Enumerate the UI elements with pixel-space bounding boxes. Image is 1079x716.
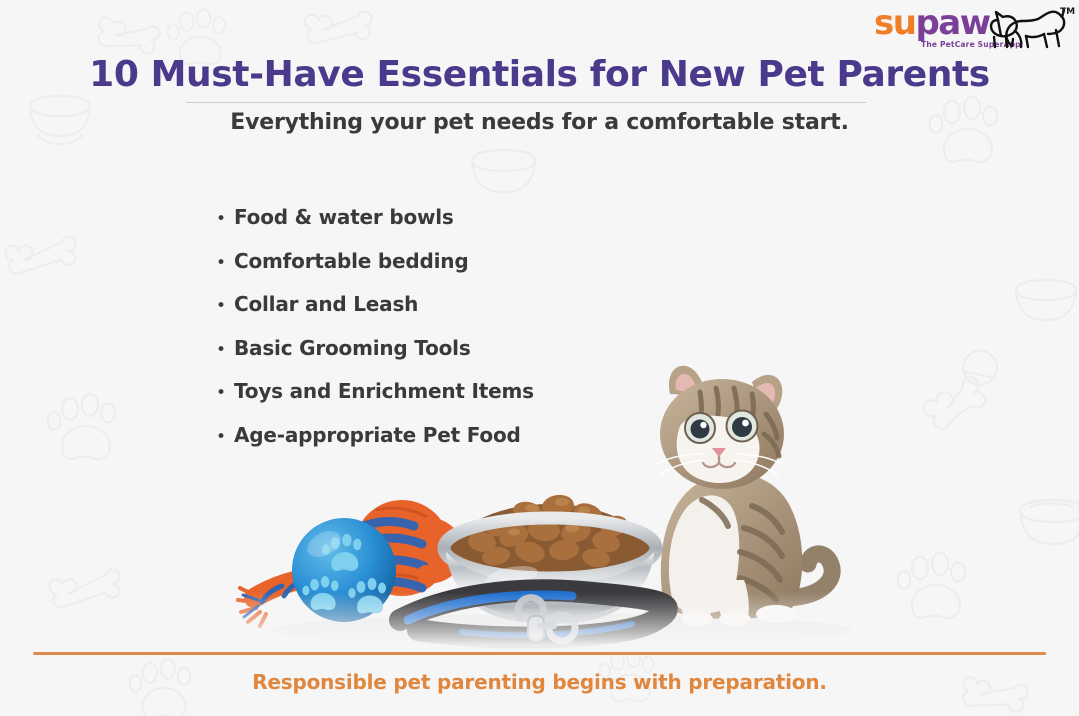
brand-name-part1: su (874, 3, 915, 43)
infographic-canvas: supaw The PetCare SuperApp (0, 0, 1079, 716)
title-divider (186, 102, 866, 103)
photo-bottom-fade (232, 592, 872, 652)
page-subtitle: Everything your pet needs for a comforta… (0, 110, 1079, 135)
bullet-icon: • (216, 298, 234, 315)
kitten-head (656, 366, 784, 489)
watermark-bone-icon (48, 566, 124, 610)
brand-wordmark: supaw (874, 6, 990, 40)
list-item: • Food & water bowls (216, 205, 736, 249)
watermark-bone-icon (96, 17, 161, 55)
brand-name-part2: paw (915, 3, 989, 43)
bullet-icon: • (216, 255, 234, 272)
dog-and-cat-line-art-icon (982, 8, 1066, 50)
list-item-label: Food & water bowls (234, 205, 454, 229)
pet-supplies-photo (232, 330, 872, 652)
watermark-bone-icon (4, 234, 80, 277)
list-item: • Collar and Leash (216, 292, 736, 336)
list-item-label: Collar and Leash (234, 292, 418, 316)
list-item: • Comfortable bedding (216, 249, 736, 293)
tabby-kitten-illustration (656, 366, 832, 626)
list-item-label: Comfortable bedding (234, 249, 468, 273)
watermark-pet-bowl-icon (472, 150, 535, 192)
watermark-bone-with-ball-icon (915, 344, 1013, 437)
trademark-symbol: TM (1060, 7, 1075, 17)
watermark-paw-icon (898, 553, 966, 618)
watermark-pet-bowl-icon (1016, 280, 1076, 320)
watermark-bone-icon (304, 9, 374, 45)
brand-logo[interactable]: supaw The PetCare SuperApp (874, 4, 1074, 52)
bullet-icon: • (216, 211, 234, 228)
watermark-pet-bowl-icon (1020, 500, 1079, 544)
footer-tagline: Responsible pet parenting begins with pr… (0, 670, 1079, 694)
footer-divider (33, 652, 1046, 655)
page-title: 10 Must-Have Essentials for New Pet Pare… (0, 54, 1079, 95)
watermark-paw-icon (48, 394, 116, 459)
